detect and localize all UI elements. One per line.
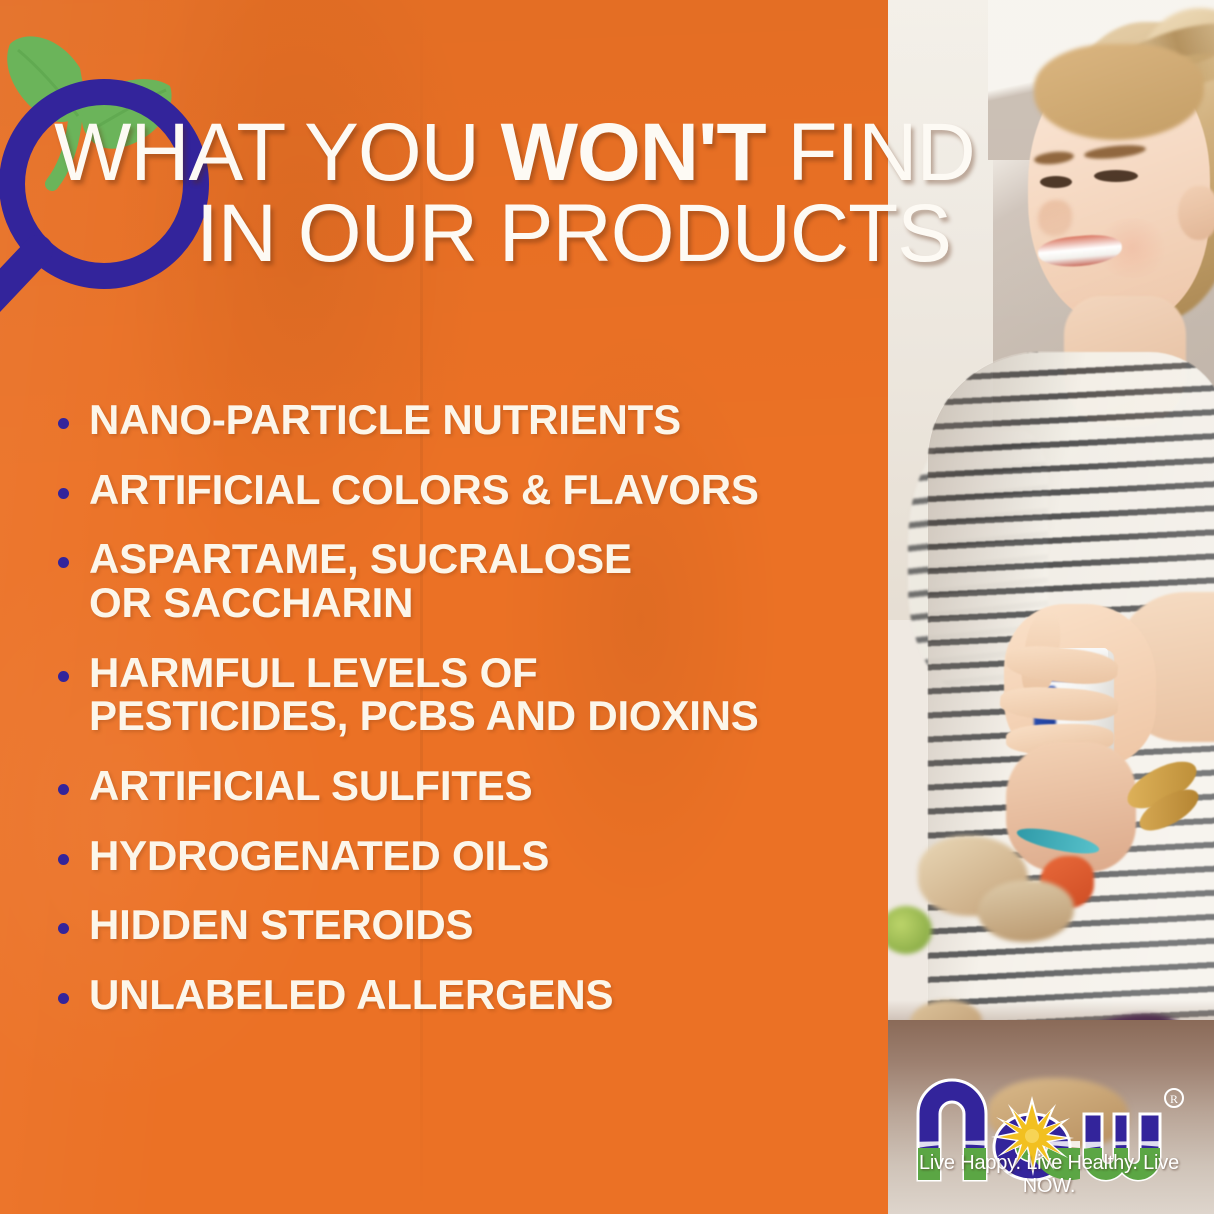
- bullet-dot-icon: [58, 854, 69, 865]
- list-item: ARTIFICIAL SULFITES: [58, 764, 898, 808]
- list-item: ASPARTAME, SUCRALOSE OR SACCHARIN: [58, 537, 898, 624]
- bullet-dot-icon: [58, 488, 69, 499]
- bullet-dot-icon: [58, 923, 69, 934]
- registered-trademark-icon: R: [1165, 1089, 1183, 1107]
- svg-text:R: R: [1170, 1092, 1178, 1106]
- list-item-label: ASPARTAME, SUCRALOSE OR SACCHARIN: [89, 537, 632, 624]
- headline-pre: WHAT YOU: [54, 107, 501, 198]
- bullet-dot-icon: [58, 784, 69, 795]
- headline-emphasis: WON'T: [501, 107, 766, 198]
- list-item-label: NANO-PARTICLE NUTRIENTS: [89, 398, 681, 442]
- headline-line-1: WHAT YOU WON'T FIND: [54, 107, 975, 198]
- poster: WHAT YOU WON'T FIND IN OUR PRODUCTS NANO…: [0, 0, 1214, 1214]
- list-item-label: HIDDEN STEROIDS: [89, 903, 473, 947]
- list-item: UNLABELED ALLERGENS: [58, 973, 898, 1017]
- list-item-label: ARTIFICIAL SULFITES: [89, 764, 532, 808]
- list-item-label: HARMFUL LEVELS OF PESTICIDES, PCBS AND D…: [89, 651, 759, 738]
- list-item: ARTIFICIAL COLORS & FLAVORS: [58, 468, 898, 512]
- bullet-dot-icon: [58, 557, 69, 568]
- list-item: HYDROGENATED OILS: [58, 834, 898, 878]
- headline-line-2: IN OUR PRODUCTS: [54, 193, 1194, 274]
- headline-post: FIND: [766, 107, 975, 198]
- list-item-label: UNLABELED ALLERGENS: [89, 973, 613, 1017]
- list-item: HARMFUL LEVELS OF PESTICIDES, PCBS AND D…: [58, 651, 898, 738]
- list-item-label: ARTIFICIAL COLORS & FLAVORS: [89, 468, 759, 512]
- excluded-ingredients-list: NANO-PARTICLE NUTRIENTS ARTIFICIAL COLOR…: [58, 398, 898, 1043]
- list-item-label: HYDROGENATED OILS: [89, 834, 549, 878]
- list-item: NANO-PARTICLE NUTRIENTS: [58, 398, 898, 442]
- list-item: HIDDEN STEROIDS: [58, 903, 898, 947]
- bullet-dot-icon: [58, 993, 69, 1004]
- brand-tagline: Live Happy. Live Healthy. Live NOW.: [908, 1152, 1190, 1198]
- page-title: WHAT YOU WON'T FIND IN OUR PRODUCTS: [54, 112, 1194, 274]
- bullet-dot-icon: [58, 671, 69, 682]
- bullet-dot-icon: [58, 418, 69, 429]
